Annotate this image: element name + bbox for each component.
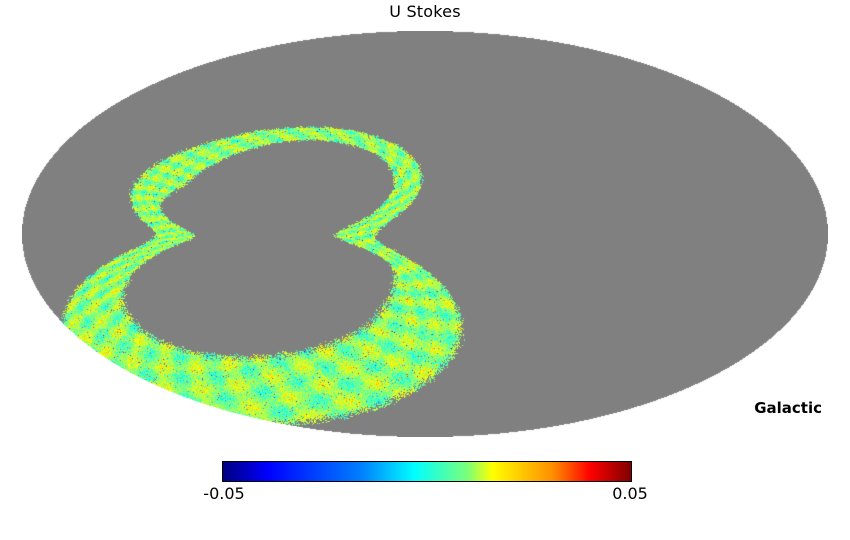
colorbar-min-label: -0.05 bbox=[164, 484, 284, 503]
sky-map bbox=[22, 31, 828, 437]
colorbar-max-label: 0.05 bbox=[570, 484, 690, 503]
figure-root: U Stokes Galactic -0.05 0.05 bbox=[0, 0, 850, 540]
colorbar[interactable] bbox=[222, 461, 632, 482]
page-title: U Stokes bbox=[0, 2, 850, 22]
mollweide-projection-canvas bbox=[22, 31, 828, 437]
coordinate-system-label: Galactic bbox=[754, 399, 822, 417]
colorbar-gradient bbox=[222, 461, 632, 482]
